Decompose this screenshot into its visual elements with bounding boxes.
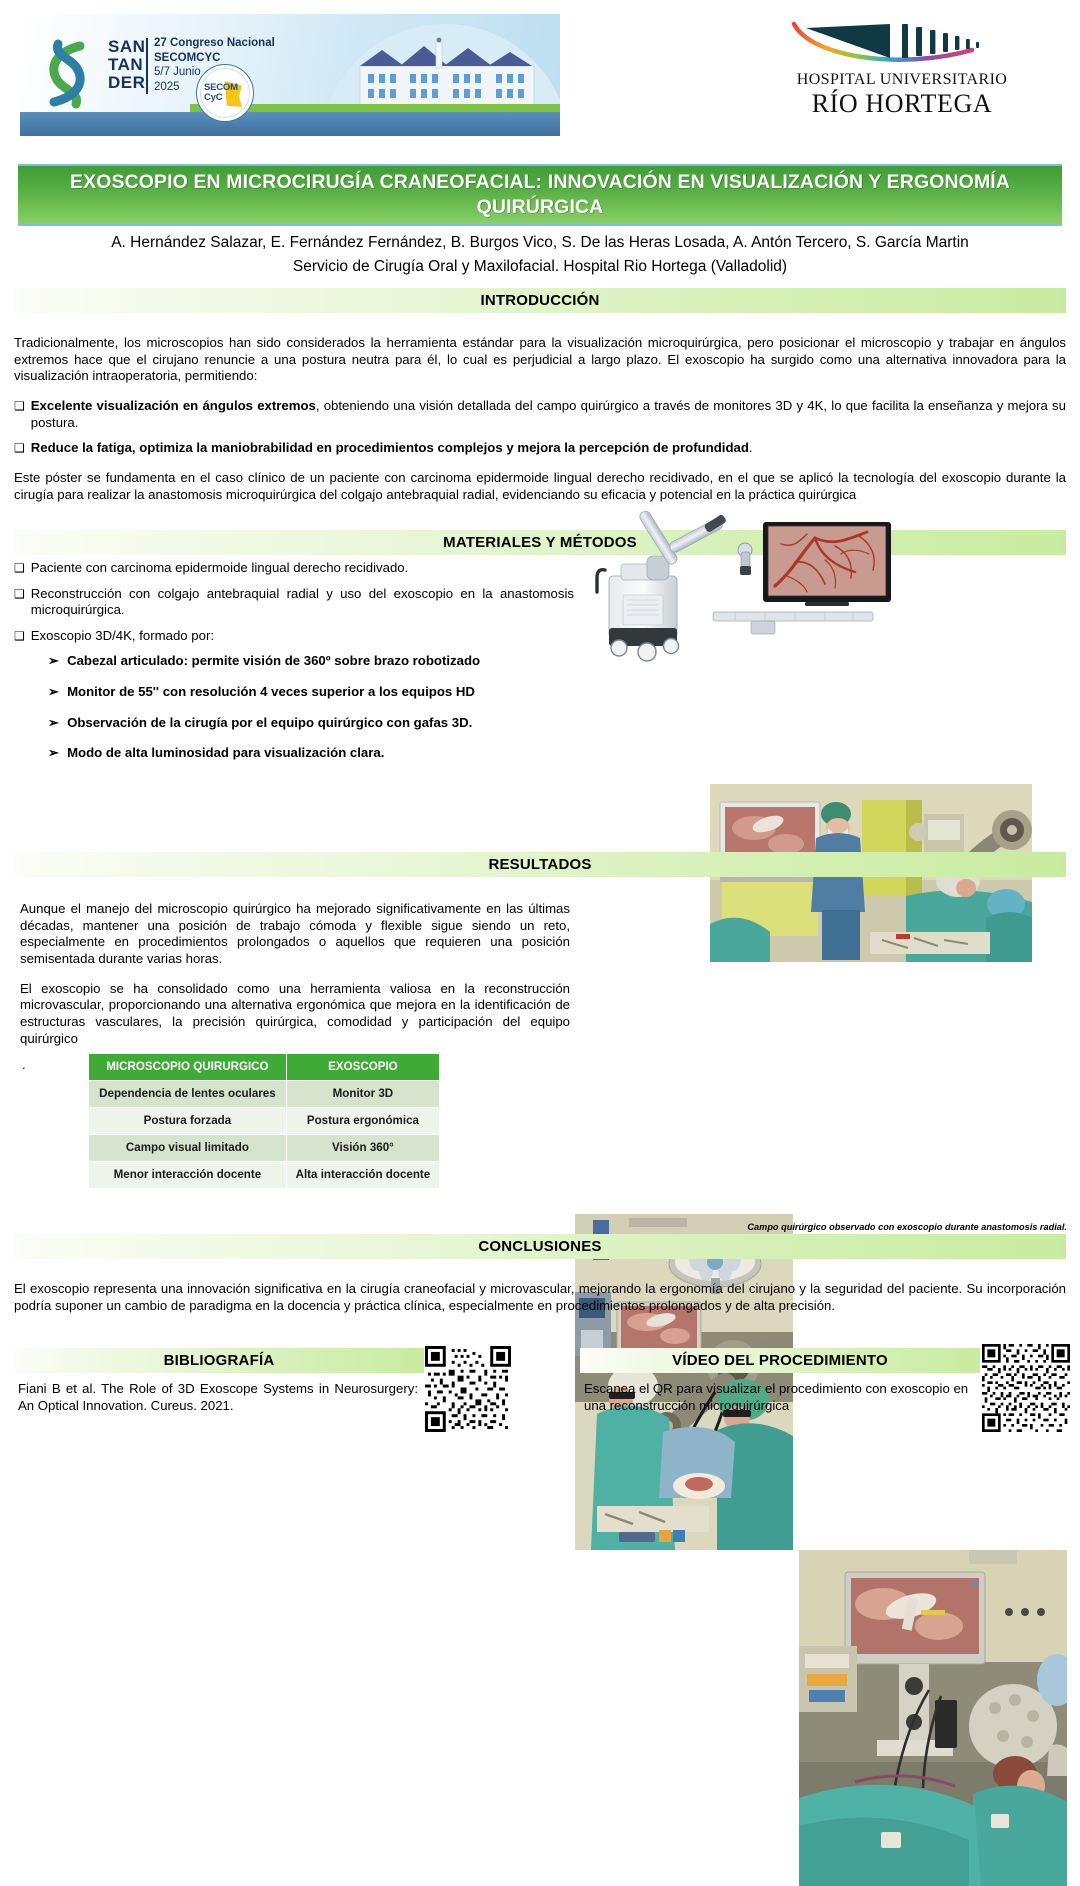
- section-materiales-header: MATERIALES Y MÉTODOS: [14, 530, 1066, 555]
- intro-bullet-2-rest: .: [749, 440, 753, 455]
- resultados-paragraph-1: Aunque el manejo del microscopio quirúrg…: [20, 901, 570, 967]
- hospital-mark-icon: [782, 16, 1022, 72]
- qr-code-video[interactable]: [982, 1344, 1070, 1432]
- materiales-sub-bullet: ➢ Monitor de 55'' con resolución 4 veces…: [48, 684, 574, 701]
- operating-room-photo-3: [799, 1550, 1067, 1886]
- bullet-square-icon: ❑: [14, 628, 25, 645]
- santander-wordmark: SAN TAN DER: [108, 38, 145, 92]
- santander-line-3: DER: [108, 74, 145, 92]
- exoscope-equipment-illustration: [595, 500, 895, 685]
- section-introduccion-header: INTRODUCCIÓN: [14, 288, 1066, 313]
- hospital-name: HOSPITAL UNIVERSITARIO RÍO HORTEGA: [772, 72, 1032, 117]
- intro-bullet-2: ❑ Reduce la fatiga, optimiza la maniobra…: [14, 440, 1066, 457]
- secom-cyc-badge-icon: SECOM CyC: [196, 64, 254, 122]
- bullet-arrow-icon: ➢: [48, 745, 59, 762]
- materiales-bullet-text: Reconstrucción con colgajo antebraquial …: [31, 586, 574, 619]
- section-heading-text: MATERIALES Y MÉTODOS: [14, 530, 1066, 555]
- table-cell: Alta interacción docente: [286, 1162, 439, 1189]
- table-cell: Postura ergonómica: [286, 1108, 439, 1135]
- section-heading-text: INTRODUCCIÓN: [14, 288, 1066, 313]
- materiales-sub-bullet-text: Modo de alta luminosidad para visualizac…: [67, 745, 384, 762]
- santander-s-logo: [36, 34, 98, 114]
- materiales-sub-bullet: ➢ Cabezal articulado: permite visión de …: [48, 653, 574, 670]
- table-cell: Dependencia de lentes oculares: [89, 1081, 287, 1108]
- section-heading-text: BIBLIOGRAFÍA: [14, 1348, 424, 1373]
- materiales-bullet-text: Paciente con carcinoma epidermoide lingu…: [31, 560, 574, 577]
- bullet-square-icon: ❑: [14, 560, 25, 577]
- table-row: Menor interacción docente Alta interacci…: [89, 1162, 440, 1189]
- video-instructions: Escanea el QR para visualizar el procedi…: [584, 1380, 974, 1414]
- table-row: Campo visual limitado Visión 360°: [89, 1135, 440, 1162]
- santander-line-1: SAN: [108, 38, 145, 56]
- stray-period: .: [22, 1057, 26, 1072]
- congress-line-2: SECOMCYC: [154, 51, 275, 66]
- qr-code-bibliografia[interactable]: [425, 1346, 511, 1432]
- table-header-exoscopio: EXOSCOPIO: [286, 1054, 439, 1081]
- section-resultados-body: Aunque el manejo del microscopio quirúrg…: [20, 888, 570, 1060]
- hospital-logo: HOSPITAL UNIVERSITARIO RÍO HORTEGA: [772, 16, 1032, 136]
- table-cell: Postura forzada: [89, 1108, 287, 1135]
- materiales-sub-bullet-text: Cabezal articulado: permite visión de 36…: [67, 653, 480, 670]
- table-cell: Visión 360°: [286, 1135, 439, 1162]
- bullet-arrow-icon: ➢: [48, 653, 59, 670]
- table-header-microscopio: MICROSCOPIO QUIRURGICO: [89, 1054, 287, 1081]
- materiales-bullet-text: Exoscopio 3D/4K, formado por:: [31, 628, 574, 645]
- section-resultados-header: RESULTADOS: [14, 852, 1066, 877]
- banner-blue-strip: [20, 112, 560, 136]
- authors-block: A. Hernández Salazar, E. Fernández Ferná…: [18, 231, 1062, 279]
- palace-illustration: [352, 36, 542, 110]
- or-photo-3-graphic: [799, 1550, 1067, 1886]
- table-cell: Menor interacción docente: [89, 1162, 287, 1189]
- table-cell: Monitor 3D: [286, 1081, 439, 1108]
- table-header-row: MICROSCOPIO QUIRURGICO EXOSCOPIO: [89, 1054, 440, 1081]
- congress-banner: SAN TAN DER 27 Congreso Nacional SECOMCY…: [20, 14, 560, 136]
- materiales-bullet: ❑ Paciente con carcinoma epidermoide lin…: [14, 560, 574, 577]
- intro-bullet-1: ❑ Excelente visualización en ángulos ext…: [14, 398, 1066, 431]
- bullet-square-icon: ❑: [14, 398, 25, 431]
- bullet-arrow-icon: ➢: [48, 684, 59, 701]
- materiales-bullet: ❑ Reconstrucción con colgajo antebraquia…: [14, 586, 574, 619]
- materiales-bullet: ❑ Exoscopio 3D/4K, formado por:: [14, 628, 574, 645]
- bibliografia-reference: Fiani B et al. The Role of 3D Exoscope S…: [18, 1380, 418, 1414]
- author-list: A. Hernández Salazar, E. Fernández Ferná…: [18, 231, 1062, 255]
- affiliation: Servicio de Cirugía Oral y Maxilofacial.…: [18, 255, 1062, 279]
- results-image-caption: Campo quirúrgico observado con exoscopio…: [575, 1222, 1067, 1232]
- section-heading-text: VÍDEO DEL PROCEDIMIENTO: [580, 1348, 980, 1373]
- materiales-sub-bullet: ➢ Modo de alta luminosidad para visualiz…: [48, 745, 574, 762]
- logo-divider: [146, 38, 148, 94]
- intro-paragraph-2: Este póster se fundamenta en el caso clí…: [14, 470, 1066, 503]
- hospital-line-2: RÍO HORTEGA: [772, 91, 1032, 117]
- table-row: Dependencia de lentes oculares Monitor 3…: [89, 1081, 440, 1108]
- table-row: Postura forzada Postura ergonómica: [89, 1108, 440, 1135]
- comparison-table: MICROSCOPIO QUIRURGICO EXOSCOPIO Depende…: [88, 1053, 440, 1189]
- bullet-square-icon: ❑: [14, 440, 25, 457]
- congress-line-1: 27 Congreso Nacional: [154, 36, 275, 51]
- table-cell: Campo visual limitado: [89, 1135, 287, 1162]
- section-conclusiones-header: CONCLUSIONES: [14, 1234, 1066, 1259]
- materiales-sub-bullet-text: Observación de la cirugía por el equipo …: [67, 715, 472, 732]
- bullet-square-icon: ❑: [14, 586, 25, 619]
- resultados-paragraph-2: El exoscopio se ha consolidado como una …: [20, 981, 570, 1047]
- intro-paragraph-1: Tradicionalmente, los microscopios han s…: [14, 335, 1066, 385]
- page-title: EXOSCOPIO EN MICROCIRUGÍA CRANEOFACIAL: …: [18, 170, 1062, 220]
- section-heading-text: CONCLUSIONES: [14, 1234, 1066, 1259]
- conclusiones-paragraph-1: El exoscopio representa una innovación s…: [14, 1281, 1066, 1314]
- hospital-line-1: HOSPITAL UNIVERSITARIO: [772, 72, 1032, 88]
- section-materiales-body: ❑ Paciente con carcinoma epidermoide lin…: [14, 560, 574, 776]
- intro-bullet-2-bold: Reduce la fatiga, optimiza la maniobrabi…: [31, 440, 749, 455]
- poster-title-bar: EXOSCOPIO EN MICROCIRUGÍA CRANEOFACIAL: …: [18, 164, 1062, 226]
- section-introduccion-body: Tradicionalmente, los microscopios han s…: [14, 322, 1066, 517]
- section-heading-text: RESULTADOS: [14, 852, 1066, 877]
- poster-header: SAN TAN DER 27 Congreso Nacional SECOMCY…: [0, 0, 1080, 152]
- materiales-sub-bullet-text: Monitor de 55'' con resolución 4 veces s…: [67, 684, 475, 701]
- badge-text: SECOM CyC: [204, 83, 238, 103]
- santander-line-2: TAN: [108, 56, 145, 74]
- intro-bullet-1-bold: Excelente visualización en ángulos extre…: [31, 398, 316, 413]
- bullet-arrow-icon: ➢: [48, 715, 59, 732]
- materiales-sub-bullet: ➢ Observación de la cirugía por el equip…: [48, 715, 574, 732]
- section-bibliografia-header: BIBLIOGRAFÍA: [14, 1348, 424, 1373]
- section-conclusiones-body: El exoscopio representa una innovación s…: [14, 1268, 1066, 1328]
- section-video-header: VÍDEO DEL PROCEDIMIENTO: [580, 1348, 980, 1373]
